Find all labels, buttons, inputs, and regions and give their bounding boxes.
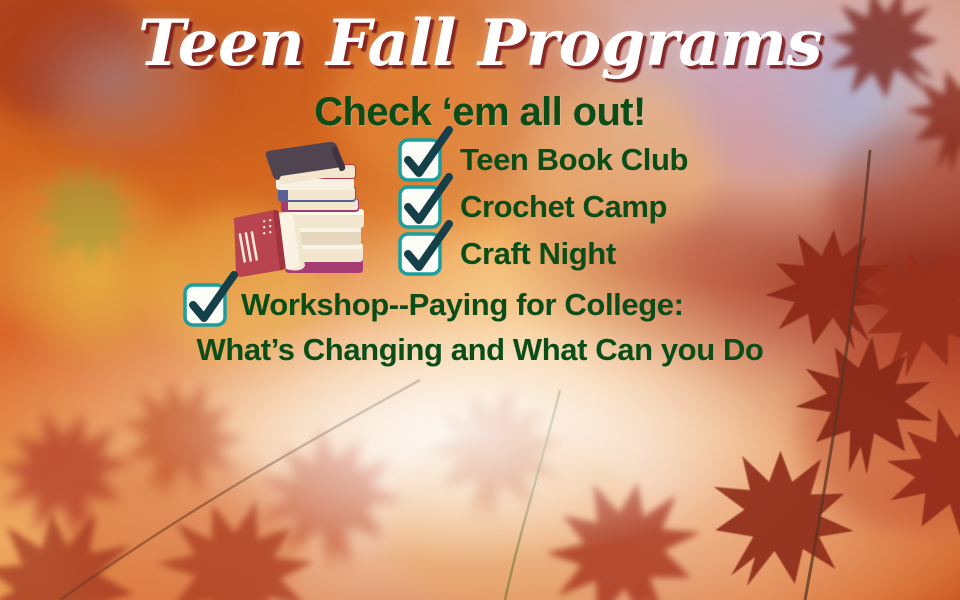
list-item[interactable]: Craft Night: [0, 230, 960, 277]
list-item-label: Crochet Camp: [460, 189, 667, 225]
program-checklist: Teen Book Club Crochet Camp Craft Night: [0, 136, 960, 328]
list-item[interactable]: Teen Book Club: [0, 136, 960, 183]
list-item-label: Craft Night: [460, 236, 616, 272]
list-item-label: Workshop--Paying for College:: [241, 287, 684, 323]
poster-canvas: Teen Fall Programs Check ‘em all out!: [0, 0, 960, 600]
checked-checkbox-icon[interactable]: [183, 283, 227, 327]
page-subtitle: Check ‘em all out!: [0, 90, 960, 135]
checked-checkbox-icon[interactable]: [398, 232, 442, 276]
page-title: Teen Fall Programs: [0, 6, 960, 81]
list-item-label: Teen Book Club: [460, 142, 688, 178]
list-item[interactable]: Workshop--Paying for College:: [0, 281, 960, 328]
list-item[interactable]: Crochet Camp: [0, 183, 960, 230]
workshop-subtitle-line: What’s Changing and What Can you Do: [0, 332, 960, 368]
